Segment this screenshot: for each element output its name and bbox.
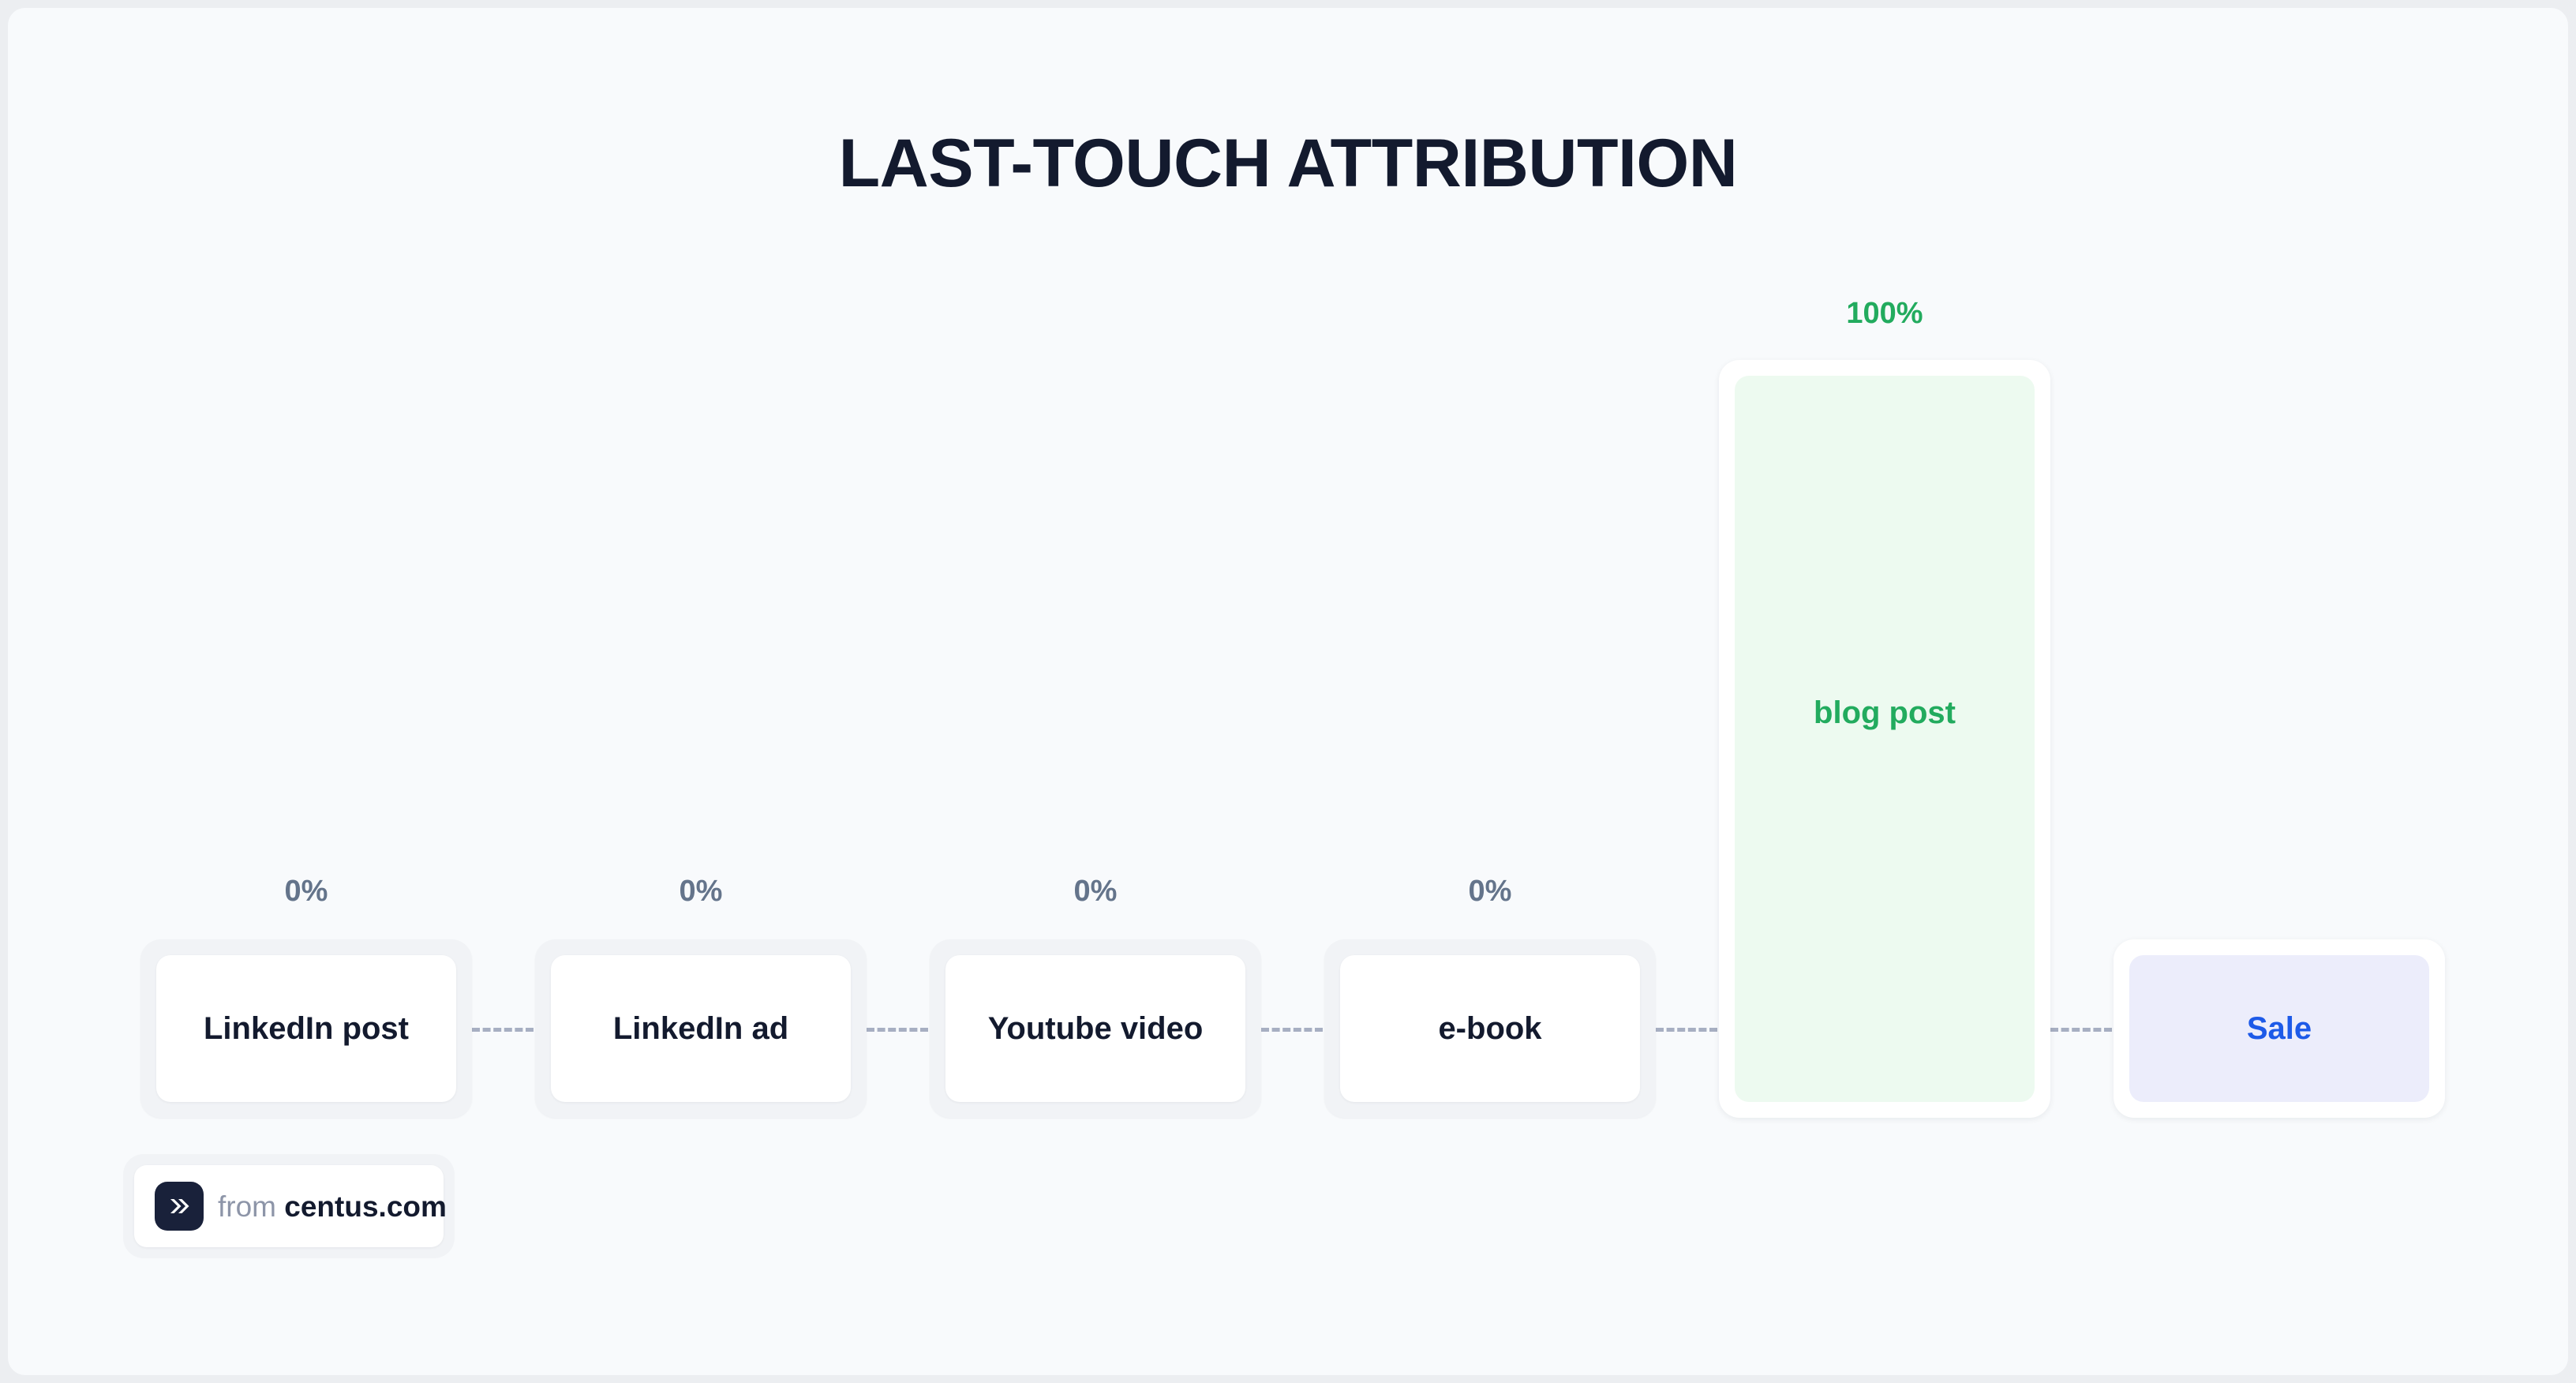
funnel-node-blog-post[interactable]: blog post (1719, 360, 2050, 1118)
attribution-badge[interactable]: from centus.com (123, 1154, 455, 1258)
funnel-node-label: Youtube video (945, 955, 1245, 1102)
funnel-node-sale[interactable]: Sale (2114, 939, 2445, 1118)
funnel-node-label: blog post (1814, 695, 1956, 731)
funnel-node-label: e-book (1340, 955, 1640, 1102)
attribution-prefix: from (218, 1190, 276, 1223)
funnel-node-label: Sale (2129, 955, 2429, 1102)
funnel-node-linkedin-ad[interactable]: LinkedIn ad (535, 939, 867, 1118)
connector-2 (867, 1028, 928, 1032)
connector-4 (1656, 1028, 1717, 1032)
connector-5 (2050, 1028, 2112, 1032)
connector-1 (472, 1028, 534, 1032)
percent-label-linkedin-ad: 0% (535, 875, 867, 909)
funnel-node-youtube-video[interactable]: Youtube video (930, 939, 1261, 1118)
percent-label-youtube-video: 0% (930, 875, 1261, 909)
funnel-node-ebook[interactable]: e-book (1324, 939, 1656, 1118)
diagram-canvas: LAST-TOUCH ATTRIBUTION 0% 0% 0% 0% 100% … (8, 8, 2568, 1375)
funnel-node-label: LinkedIn ad (551, 955, 851, 1102)
percent-label-linkedin-post: 0% (140, 875, 472, 909)
percent-label-ebook: 0% (1324, 875, 1656, 909)
connector-3 (1261, 1028, 1323, 1032)
centus-logo-icon (155, 1182, 204, 1231)
funnel-node-bar-fill: blog post (1735, 376, 2035, 1102)
funnel-node-label: LinkedIn post (156, 955, 456, 1102)
attribution-domain: centus.com (284, 1190, 447, 1223)
percent-label-blog-post: 100% (1719, 297, 2050, 331)
attribution-badge-text: from centus.com (218, 1192, 447, 1221)
attribution-badge-inner: from centus.com (134, 1165, 444, 1247)
funnel-node-linkedin-post[interactable]: LinkedIn post (140, 939, 472, 1118)
